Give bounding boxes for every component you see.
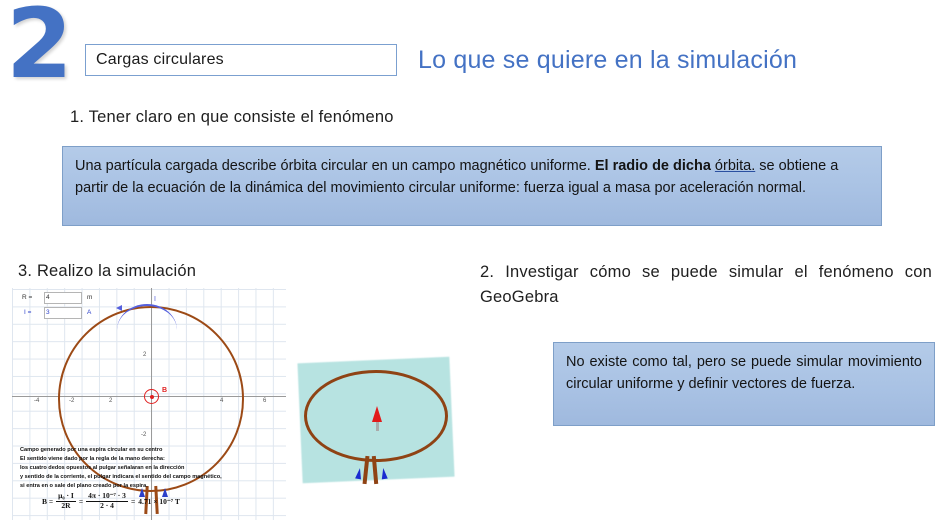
answer-callout-text: No existe como tal, pero se puede simula… <box>566 354 922 392</box>
geogebra-field-point-dot <box>150 395 154 399</box>
formula-frac2-denominator: 2 · 4 <box>98 502 116 511</box>
geogebra-simulation-screenshot[interactable]: -4 -2 2 4 6 2 -2 B I R = 4 m I = 3 A Cam… <box>12 288 286 520</box>
geogebra-current-label: I <box>154 296 156 303</box>
answer-callout: No existe como tal, pero se puede simula… <box>553 342 935 426</box>
formula-fraction-1: μ₀ · I 2R <box>56 492 76 510</box>
slide-number: 2 <box>6 0 71 92</box>
geogebra-note-block: Campo generado por una espira circular e… <box>20 446 270 491</box>
slide-title: Lo que se quiere en la simulación <box>418 46 797 75</box>
formula-equals-1: = <box>79 497 83 506</box>
current-input-value: 3 <box>46 307 50 319</box>
definition-callout: Una partícula cargada describe órbita ci… <box>62 146 882 226</box>
formula-result: 4.71 × 10⁻⁷ T <box>138 497 180 506</box>
geogebra-note-line-2: El sentido viene dado por la regla de la… <box>20 455 270 464</box>
formula-equals-2: = <box>131 497 135 506</box>
radius-input-unit: m <box>87 292 92 304</box>
geogebra-note-line-3: los cuatro dedos opuestos al pulgar seña… <box>20 464 270 473</box>
step-2-heading: 2. Investigar cómo se puede simular el f… <box>480 260 932 310</box>
step-3-heading: 3. Realizo la simulación <box>18 262 196 281</box>
topic-text-box[interactable]: Cargas circulares <box>85 44 397 76</box>
magnetic-field-arrow-stem <box>376 422 379 431</box>
definition-part3-underlined: órbita. <box>715 158 755 174</box>
current-input-unit: A <box>87 307 91 319</box>
x-tick-6: 6 <box>263 398 266 404</box>
geogebra-note-line-5: si entra en o sale del plano creado por … <box>20 482 270 491</box>
magnetic-field-arrow-icon <box>372 406 382 422</box>
radius-input-symbol: R = <box>22 292 32 304</box>
geogebra-formula: B = μ₀ · I 2R = 4π · 10⁻⁷ · 3 2 · 4 = 4.… <box>42 492 180 510</box>
geogebra-current-arc-arrowhead <box>116 305 122 311</box>
geogebra-note-line-1: Campo generado por una espira circular e… <box>20 446 270 455</box>
x-tick--4: -4 <box>34 398 39 404</box>
formula-fraction-2: 4π · 10⁻⁷ · 3 2 · 4 <box>86 492 128 510</box>
topic-text-box-value: Cargas circulares <box>96 51 224 69</box>
step-1-heading: 1. Tener claro en que consiste el fenóme… <box>70 108 394 127</box>
radius-input-value: 4 <box>46 292 50 304</box>
formula-lhs: B = <box>42 497 53 506</box>
current-loop-3d-illustration <box>288 346 468 518</box>
definition-part1: Una partícula cargada describe órbita ci… <box>75 158 591 174</box>
definition-part2: El radio de dicha <box>595 158 711 174</box>
current-input-symbol: I = <box>24 307 31 319</box>
geogebra-field-label: B <box>162 387 167 394</box>
geogebra-note-line-4: y sentido de la corriente, el pulgar ind… <box>20 473 270 482</box>
formula-frac1-denominator: 2R <box>59 502 72 511</box>
